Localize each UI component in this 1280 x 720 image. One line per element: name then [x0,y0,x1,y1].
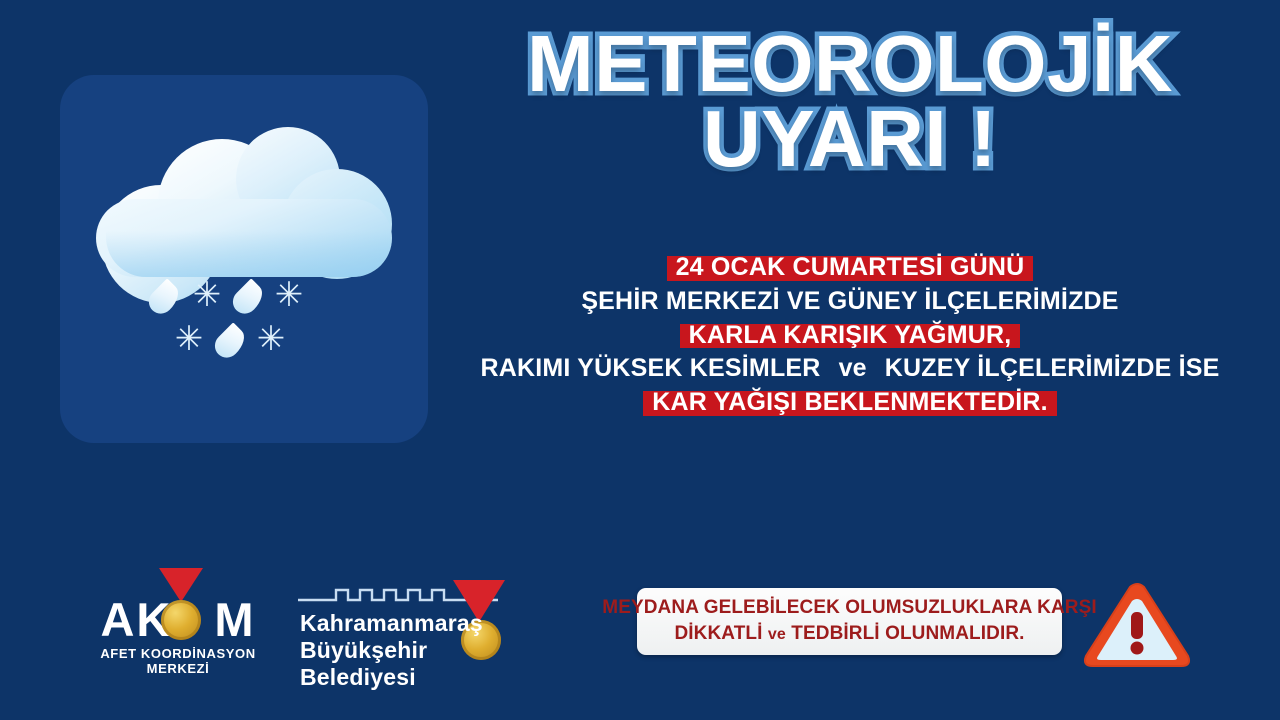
warning-message-block: 24 OCAK CUMARTESİ GÜNÜ ŞEHİR MERKEZİ VE … [470,256,1230,425]
warning-triangle-icon [1082,580,1192,672]
kahramanmaras-line-1: Kahramanmaraş [300,610,518,637]
kahramanmaras-wordmark: Kahramanmaraş Büyükşehir Belediyesi [300,610,518,691]
snowflake-icon: ✳ [256,324,286,354]
title-line-1: METEOROLOJİK [470,26,1230,101]
message-line-text: KARLA KARIŞIK YAĞMUR, [680,324,1021,349]
message-line-text: 24 OCAK CUMARTESİ GÜNÜ [667,256,1034,281]
kahramanmaras-municipality-logo: Kahramanmaraş Büyükşehir Belediyesi [298,576,518,672]
message-line-text-part2: KUZEY İLÇELERİMİZDE İSE [876,357,1229,382]
snowflake-icon: ✳ [274,280,304,310]
message-line-text-part1: RAKIMI YÜKSEK KESİMLER [471,357,829,382]
title-line-2: UYARI ! [470,101,1230,176]
poster-title: METEOROLOJİK UYARI ! [470,26,1230,176]
kahramanmaras-line-2: Büyükşehir Belediyesi [300,637,518,691]
advisory-line-2-part2: TEDBİRLİ OLUNMALIDIR. [791,623,1024,644]
rain-drop-icon [228,278,268,318]
rain-drop-icon [210,322,250,362]
snowflake-icon: ✳ [192,280,222,310]
advisory-line-1: MEYDANA GELEBİLECEK OLUMSUZLUKLARA KARŞI [602,595,1096,621]
message-line-text: ŞEHİR MERKEZİ VE GÜNEY İLÇELERİMİZDE [572,290,1127,315]
message-line: KAR YAĞIŞI BEKLENMEKTEDİR. [470,391,1230,416]
message-line: 24 OCAK CUMARTESİ GÜNÜ [470,256,1230,281]
advisory-line-2-conjunction: ve [768,626,786,643]
advisory-line-2-part1: DİKKATLİ [674,623,762,644]
akom-medal-icon [161,600,201,640]
advisory-line-2: DİKKATLİ ve TEDBİRLİ OLUNMALIDIR. [674,621,1024,648]
snowflake-icon: ✳ [174,324,204,354]
message-line: ŞEHİR MERKEZİ VE GÜNEY İLÇELERİMİZDE [470,290,1230,315]
weather-icon-panel: ✳ ✳ ✳ ✳ [60,75,428,443]
precipitation-group: ✳ ✳ ✳ ✳ [152,280,342,376]
message-line: RAKIMI YÜKSEK KESİMLERveKUZEY İLÇELERİMİ… [470,357,1230,382]
meteorological-warning-poster: ✳ ✳ ✳ ✳ METEOROLOJİK UYARI ! 24 OCAK CUM… [0,0,1280,720]
message-line-text: KAR YAĞIŞI BEKLENMEKTEDİR. [643,391,1057,416]
message-line-conjunction: ve [830,357,876,382]
cloud-shadow [106,231,392,277]
advisory-banner: MEYDANA GELEBİLECEK OLUMSUZLUKLARA KARŞI… [637,588,1062,655]
akom-logo: AKM AFET KOORDİNASYON MERKEZİ [78,568,278,670]
message-line: KARLA KARIŞIK YAĞMUR, [470,324,1230,349]
cloud-icon [96,127,392,277]
akom-word-right: M [214,593,255,646]
akom-subtitle: AFET KOORDİNASYON MERKEZİ [78,646,278,676]
